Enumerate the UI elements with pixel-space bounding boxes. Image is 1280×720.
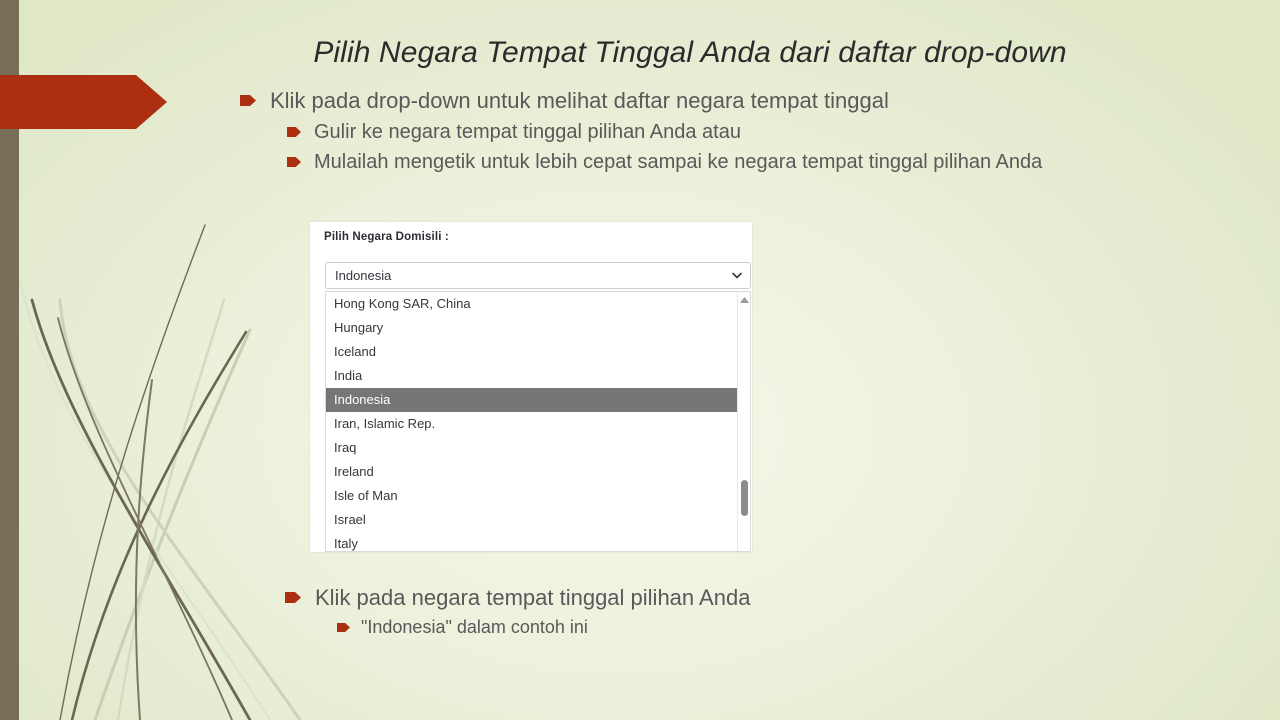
- bullet-list-top: Klik pada drop-down untuk melihat daftar…: [240, 86, 1180, 180]
- dropdown-screenshot-card: Pilih Negara Domisili : Indonesia Hong K…: [310, 222, 752, 552]
- list-item[interactable]: Israel: [326, 508, 738, 532]
- bullet-item: Klik pada drop-down untuk melihat daftar…: [240, 86, 1180, 115]
- bullet-item: Gulir ke negara tempat tinggal pilihan A…: [287, 119, 1180, 145]
- list-item[interactable]: Hungary: [326, 316, 738, 340]
- bullet-item: Klik pada negara tempat tinggal pilihan …: [285, 583, 1225, 612]
- list-item[interactable]: India: [326, 364, 738, 388]
- bullet-item: "Indonesia" dalam contoh ini: [337, 616, 1225, 640]
- slide-canvas: Pilih Negara Tempat Tinggal Anda dari da…: [0, 0, 1280, 720]
- bullet-text: Mulailah mengetik untuk lebih cepat samp…: [314, 149, 1042, 175]
- listbox-scrollbar[interactable]: [737, 292, 750, 551]
- list-item[interactable]: Isle of Man: [326, 484, 738, 508]
- scrollbar-thumb[interactable]: [741, 480, 748, 516]
- list-item[interactable]: Italy: [326, 532, 738, 552]
- field-label: Pilih Negara Domisili :: [324, 231, 449, 243]
- country-select[interactable]: Indonesia: [325, 262, 751, 289]
- red-arrow-banner: [0, 75, 167, 129]
- chevron-down-icon: [732, 272, 742, 279]
- list-item-selected[interactable]: Indonesia: [326, 388, 738, 412]
- bullet-text: Klik pada drop-down untuk melihat daftar…: [270, 86, 889, 115]
- bullet-list-bottom: Klik pada negara tempat tinggal pilihan …: [285, 583, 1225, 644]
- bullet-text: Gulir ke negara tempat tinggal pilihan A…: [314, 119, 741, 145]
- country-listbox[interactable]: Hong Kong SAR, China Hungary Iceland Ind…: [325, 291, 751, 552]
- list-item[interactable]: Hong Kong SAR, China: [326, 292, 738, 316]
- list-item[interactable]: Iceland: [326, 340, 738, 364]
- bullet-item: Mulailah mengetik untuk lebih cepat samp…: [287, 149, 1180, 175]
- bullet-text: "Indonesia" dalam contoh ini: [361, 616, 588, 640]
- list-item[interactable]: Iraq: [326, 436, 738, 460]
- page-title: Pilih Negara Tempat Tinggal Anda dari da…: [190, 36, 1190, 70]
- scroll-up-arrow-icon[interactable]: [740, 297, 749, 303]
- bullet-text: Klik pada negara tempat tinggal pilihan …: [315, 583, 750, 612]
- list-item[interactable]: Ireland: [326, 460, 738, 484]
- select-selected-value: Indonesia: [335, 268, 391, 283]
- card-surface: Pilih Negara Domisili : Indonesia Hong K…: [310, 222, 752, 552]
- list-item[interactable]: Iran, Islamic Rep.: [326, 412, 738, 436]
